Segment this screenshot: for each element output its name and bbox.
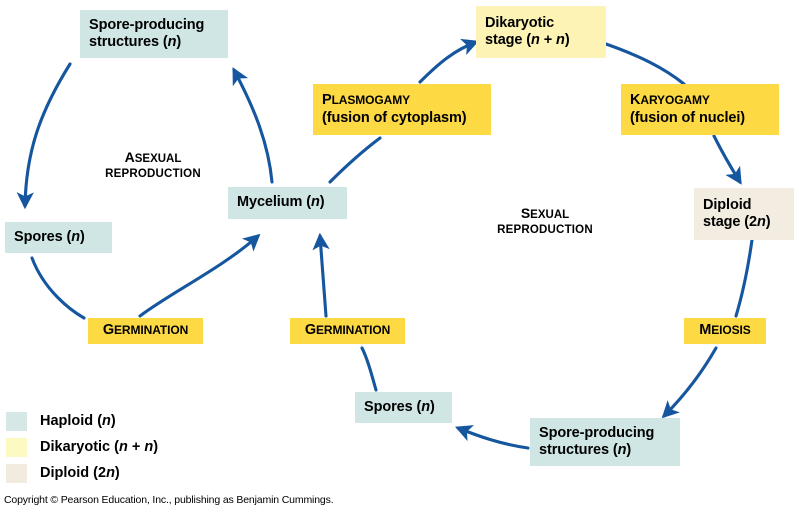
copyright-notice: Copyright © Pearson Education, Inc., pub… (4, 494, 333, 506)
process-label: GERMINATION (103, 322, 188, 340)
arrow-mycelium-to-spore-structures (234, 70, 272, 182)
caption-line-2: REPRODUCTION (480, 223, 610, 238)
process-detail: (fusion of nuclei) (630, 110, 770, 128)
caption-line-1: SEXUAL (480, 206, 610, 223)
caption-line-2: REPRODUCTION (88, 167, 218, 182)
arrow-spores-to-germination-left (32, 258, 84, 318)
arrow-germination-left-to-mycelium (140, 236, 258, 316)
process-plasmogamy[interactable]: PLASMOGAMY (fusion of cytoplasm) (313, 84, 491, 135)
arrow-mycelium-to-plasmogamy (330, 138, 380, 182)
process-detail: (fusion of cytoplasm) (322, 110, 482, 128)
node-line-2: stage (n + n) (485, 32, 597, 50)
legend-label-haploid: Haploid (n) (40, 413, 116, 429)
legend-swatch-haploid (6, 412, 27, 431)
node-line-1: Mycelium (n) (237, 194, 338, 212)
caption-asexual-reproduction: ASEXUAL REPRODUCTION (88, 150, 218, 182)
node-line-2: structures (n) (89, 34, 219, 52)
node-spore-producing-structures-bottom[interactable]: Spore-producing structures (n) (530, 418, 680, 466)
node-line-1: Dikaryotic (485, 15, 597, 33)
process-label: PLASMOGAMY (322, 92, 482, 110)
node-line-1: Spore-producing (539, 425, 671, 443)
process-label: MEIOSIS (699, 322, 750, 340)
process-germination-left[interactable]: GERMINATION (88, 318, 203, 344)
diagram-canvas: Spore-producing structures (n) Spores (n… (0, 0, 799, 516)
process-meiosis[interactable]: MEIOSIS (684, 318, 766, 344)
legend-item-diploid: Diploid (2n) (6, 460, 158, 486)
arrow-diploid-to-meiosis (736, 240, 752, 316)
process-karyogamy[interactable]: KARYOGAMY (fusion of nuclei) (621, 84, 779, 135)
legend-swatch-dikaryotic (6, 438, 27, 457)
arrow-meiosis-to-spore-structures-bottom (664, 348, 716, 416)
process-label: KARYOGAMY (630, 92, 770, 110)
process-germination-right[interactable]: GERMINATION (290, 318, 405, 344)
node-line-1: Spore-producing (89, 17, 219, 35)
legend-label-diploid: Diploid (2n) (40, 465, 120, 481)
node-spore-producing-structures-top[interactable]: Spore-producing structures (n) (80, 10, 228, 58)
process-label: GERMINATION (305, 322, 390, 340)
node-dikaryotic-stage[interactable]: Dikaryotic stage (n + n) (476, 6, 606, 58)
arrow-dikaryotic-to-karyogamy (606, 44, 684, 84)
caption-sexual-reproduction: SEXUAL REPRODUCTION (480, 206, 610, 238)
legend-swatch-diploid (6, 464, 27, 483)
node-spores-bottom[interactable]: Spores (n) (355, 392, 452, 423)
arrow-spores-bottom-to-germination-right (362, 348, 376, 390)
legend: Haploid (n) Dikaryotic (n + n) Diploid (… (6, 408, 158, 486)
arrow-plasmogamy-to-dikaryotic (420, 42, 476, 82)
node-line-2: structures (n) (539, 442, 671, 460)
arrow-germination-right-to-mycelium (320, 236, 326, 316)
arrow-karyogamy-to-diploid (714, 136, 740, 182)
node-spores-left[interactable]: Spores (n) (5, 222, 112, 253)
legend-item-dikaryotic: Dikaryotic (n + n) (6, 434, 158, 460)
node-line-1: Spores (n) (14, 229, 103, 247)
node-line-2: stage (2n) (703, 214, 785, 232)
legend-item-haploid: Haploid (n) (6, 408, 158, 434)
arrow-spore-structures-to-spores (25, 64, 70, 206)
caption-line-1: ASEXUAL (88, 150, 218, 167)
node-line-1: Diploid (703, 197, 785, 215)
arrow-spore-structures-bottom-to-spores-bottom (458, 428, 528, 448)
node-mycelium[interactable]: Mycelium (n) (228, 187, 347, 219)
node-line-1: Spores (n) (364, 399, 443, 417)
node-diploid-stage[interactable]: Diploid stage (2n) (694, 188, 794, 240)
legend-label-dikaryotic: Dikaryotic (n + n) (40, 439, 158, 455)
